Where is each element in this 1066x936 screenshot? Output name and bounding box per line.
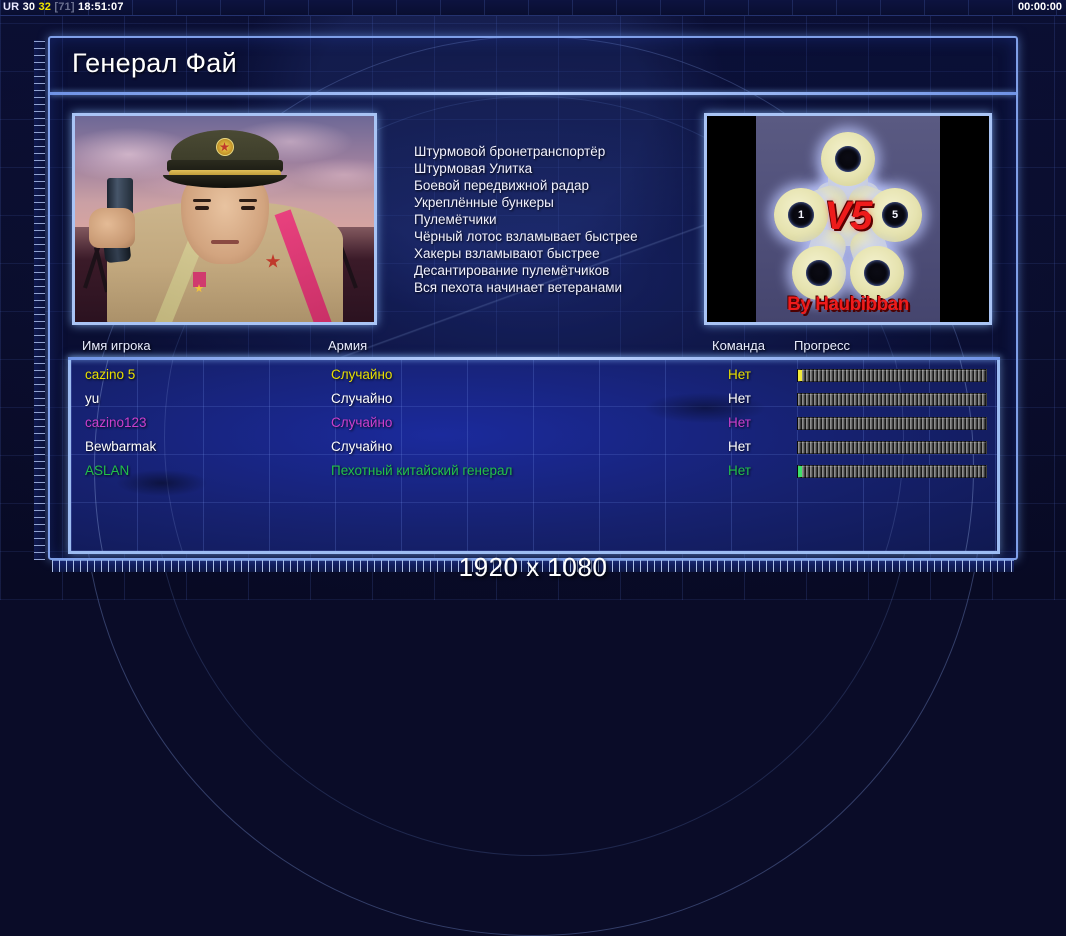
- map-start-hole: [864, 260, 890, 286]
- ability-item: Вся пехота начинает ветеранами: [414, 279, 704, 296]
- status-value-secondary: 32: [38, 1, 51, 13]
- progress-bar: [797, 465, 987, 478]
- cell-player-name: yu: [85, 391, 99, 406]
- progress-bar-lead: [798, 370, 802, 381]
- ability-item: Хакеры взламывают быстрее: [414, 245, 704, 262]
- map-start-hole: [835, 146, 861, 172]
- map-author-credit: By Haubibban: [756, 294, 940, 316]
- table-header-divider: [68, 357, 1000, 360]
- progress-bar: [797, 369, 987, 382]
- progress-bar-lead: [798, 394, 802, 405]
- cell-player-name: cazino 5: [85, 367, 135, 382]
- progress-bar-lead: [798, 442, 802, 453]
- cell-army[interactable]: Случайно: [331, 439, 392, 454]
- resolution-label: 1920 x 1080: [0, 552, 1066, 583]
- map-version-label: V5: [808, 194, 888, 239]
- cell-player-name: cazino123: [85, 415, 147, 430]
- status-value-primary: 30: [23, 1, 36, 13]
- cell-team[interactable]: Нет: [728, 463, 751, 478]
- ability-item: Десантирование пулемётчиков: [414, 262, 704, 279]
- column-header-player-name: Имя игрока: [82, 338, 151, 353]
- cell-team[interactable]: Нет: [728, 439, 751, 454]
- table-row[interactable]: BewbarmakСлучайноНет: [71, 436, 997, 460]
- portrait-brow-right: [239, 199, 257, 202]
- player-rows: cazino 5СлучайноНетyuСлучайноНетcazino12…: [71, 358, 997, 484]
- table-row[interactable]: cazino 5СлучайноНет: [71, 364, 997, 388]
- portrait-mouth: [211, 240, 239, 244]
- table-row[interactable]: cazino123СлучайноНет: [71, 412, 997, 436]
- general-portrait: [72, 113, 377, 325]
- table-row[interactable]: ASLANПехотный китайский генералНет: [71, 460, 997, 484]
- ability-item: Штурмовая Улитка: [414, 160, 704, 177]
- status-value-bracketed: [71]: [54, 1, 74, 13]
- map-preview[interactable]: 1 5 V5 By Haubibban: [704, 113, 992, 325]
- progress-bar-lead: [798, 418, 802, 429]
- map-start-position: [792, 246, 846, 300]
- page-title: Генерал Фай: [72, 48, 237, 79]
- portrait-hand: [89, 208, 135, 248]
- map-preview-image: 1 5 V5 By Haubibban: [756, 116, 940, 322]
- status-label-ur: UR: [3, 1, 19, 13]
- cell-army[interactable]: Случайно: [331, 415, 392, 430]
- cap-emblem-icon: [216, 138, 234, 156]
- cell-player-name: ASLAN: [85, 463, 129, 478]
- red-star-icon: [266, 254, 281, 269]
- vertical-ruler-strip: [34, 40, 45, 560]
- military-cap-icon: [163, 130, 287, 186]
- cell-army[interactable]: Случайно: [331, 367, 392, 382]
- cell-player-name: Bewbarmak: [85, 439, 156, 454]
- portrait-sash-pink: [274, 209, 338, 325]
- cell-team[interactable]: Нет: [728, 367, 751, 382]
- portrait-eye-right: [241, 206, 255, 210]
- map-start-position: [850, 246, 904, 300]
- progress-bar: [797, 393, 987, 406]
- title-divider: [50, 92, 1016, 95]
- portrait-eye-left: [195, 206, 209, 210]
- ability-item: Чёрный лотос взламывает быстрее: [414, 228, 704, 245]
- column-header-team: Команда: [712, 338, 765, 353]
- map-start-hole: [806, 260, 832, 286]
- ability-item: Пулемётчики: [414, 211, 704, 228]
- ability-item: Штурмовой бронетранспортёр: [414, 143, 704, 160]
- title-bar: Генерал Фай: [50, 38, 1016, 94]
- progress-bar-lead: [798, 466, 802, 477]
- top-status-bar-grid: [0, 0, 1066, 15]
- connection-status-group: UR 30 32 [71] 18:51:07: [3, 1, 124, 13]
- progress-bar: [797, 441, 987, 454]
- cell-army[interactable]: Случайно: [331, 391, 392, 406]
- player-table-panel: cazino 5СлучайноНетyuСлучайноНетcazino12…: [68, 358, 1000, 554]
- cell-army[interactable]: Пехотный китайский генерал: [331, 463, 512, 478]
- status-clock: 18:51:07: [78, 1, 124, 13]
- player-table-header: Имя игрока Армия Команда Прогресс: [72, 338, 996, 358]
- match-timer: 00:00:00: [1018, 1, 1062, 13]
- top-status-bar: UR 30 32 [71] 18:51:07 00:00:00: [0, 0, 1066, 16]
- column-header-army: Армия: [328, 338, 367, 353]
- ability-item: Укреплённые бункеры: [414, 194, 704, 211]
- table-row[interactable]: yuСлучайноНет: [71, 388, 997, 412]
- ability-item: Боевой передвижной радар: [414, 177, 704, 194]
- portrait-brow-left: [193, 199, 211, 202]
- progress-bar: [797, 417, 987, 430]
- map-start-position: [821, 132, 875, 186]
- medal-icon: [193, 272, 206, 287]
- cell-team[interactable]: Нет: [728, 391, 751, 406]
- general-abilities-list: Штурмовой бронетранспортёр Штурмовая Ули…: [414, 143, 704, 296]
- column-header-progress: Прогресс: [794, 338, 850, 353]
- cell-team[interactable]: Нет: [728, 415, 751, 430]
